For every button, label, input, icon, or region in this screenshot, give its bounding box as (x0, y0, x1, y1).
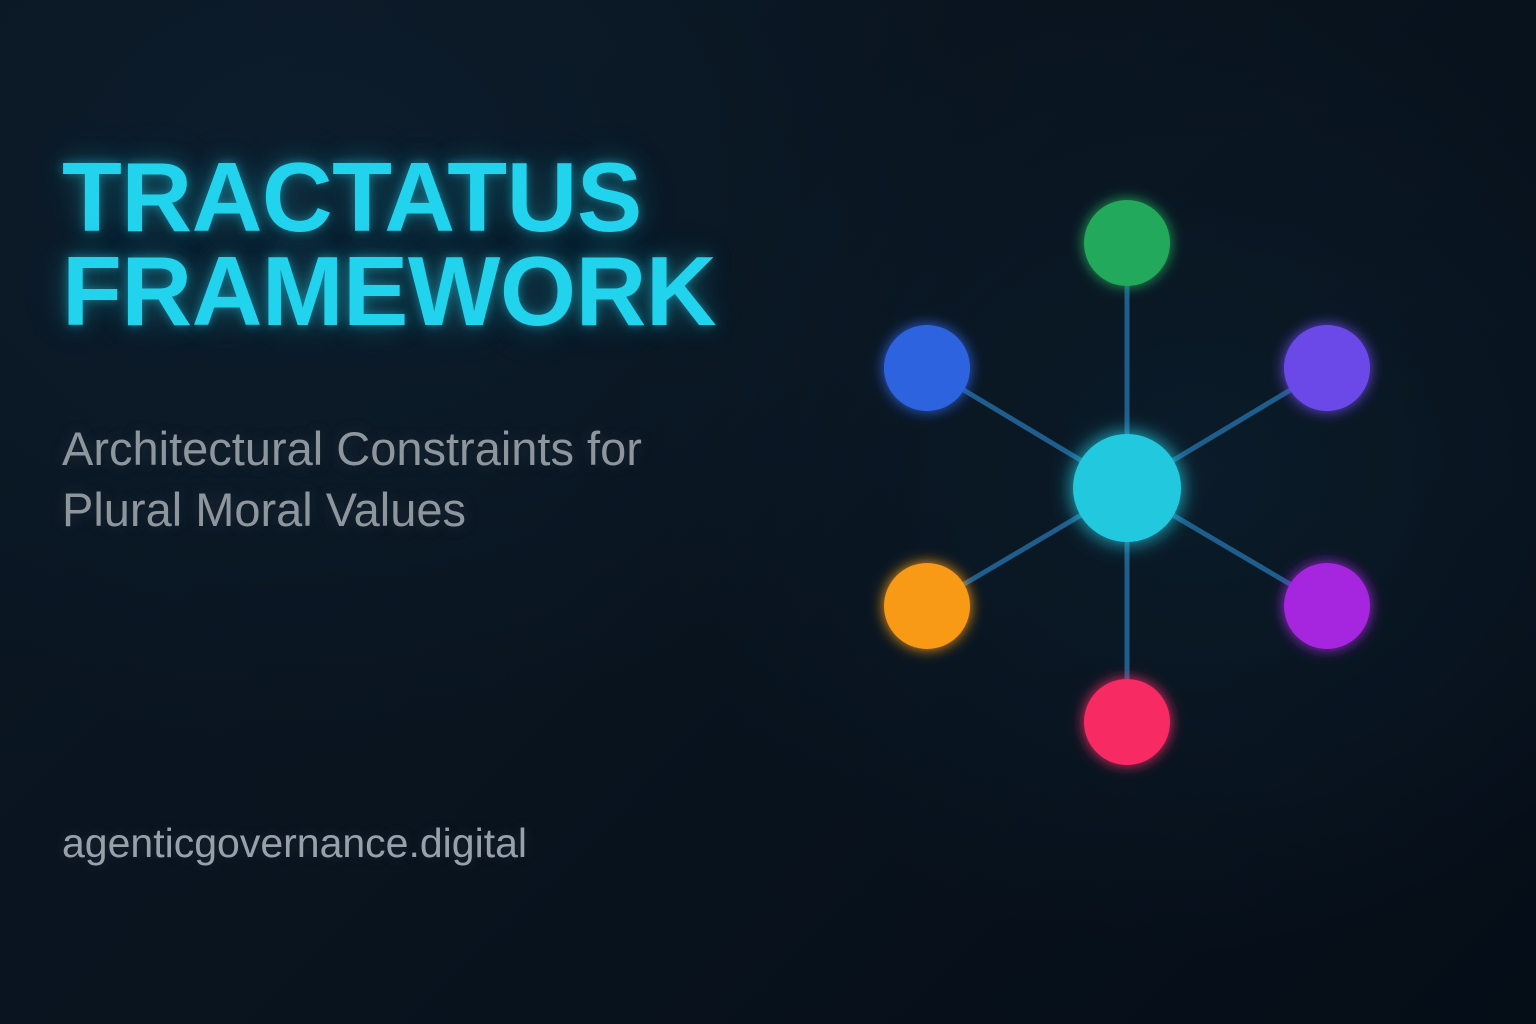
title-line-1: TRACTATUS (62, 150, 822, 244)
edge-hub-to-node-magenta (1127, 488, 1327, 606)
title-line-2: FRAMEWORK (62, 244, 822, 338)
node-blue[interactable] (884, 325, 970, 411)
diagram-edges (927, 243, 1327, 722)
edge-hub-to-node-blue (927, 368, 1127, 488)
page-subtitle: Architectural Constraints for Plural Mor… (62, 418, 822, 540)
subtitle-line-1: Architectural Constraints for (62, 418, 822, 479)
diagram-nodes (884, 200, 1370, 765)
slide-canvas: TRACTATUS FRAMEWORK Architectural Constr… (0, 0, 1536, 1024)
hero-text-column: TRACTATUS FRAMEWORK Architectural Constr… (62, 0, 822, 1024)
footer-url: agenticgovernance.digital (62, 820, 527, 867)
node-green[interactable] (1084, 200, 1170, 286)
edge-hub-to-node-indigo (1127, 368, 1327, 488)
edge-hub-to-node-orange (927, 488, 1127, 606)
node-orange[interactable] (884, 563, 970, 649)
node-magenta[interactable] (1284, 563, 1370, 649)
page-title: TRACTATUS FRAMEWORK (62, 150, 822, 338)
subtitle-line-2: Plural Moral Values (62, 479, 822, 540)
node-pink[interactable] (1084, 679, 1170, 765)
node-indigo[interactable] (1284, 325, 1370, 411)
central-hub-node[interactable] (1073, 434, 1181, 542)
